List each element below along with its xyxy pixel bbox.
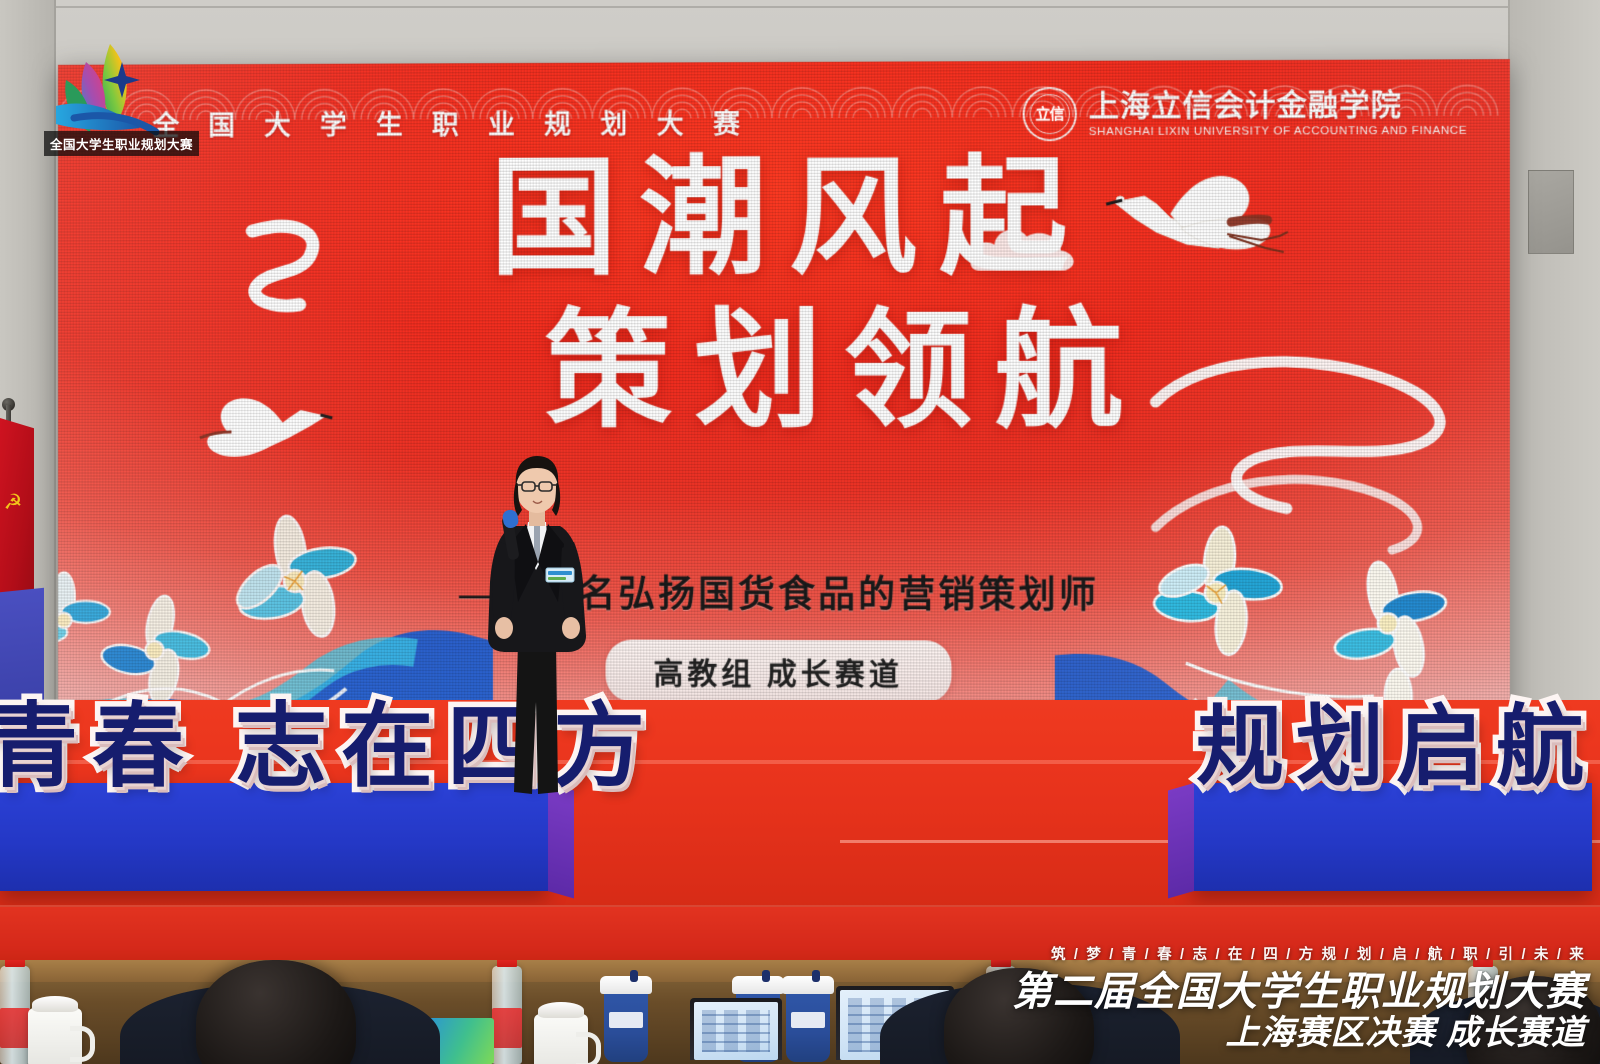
judges-table-area: 源香园	[0, 960, 1600, 1064]
water-bottle	[0, 966, 30, 1064]
tablet-device	[690, 998, 782, 1060]
photo-scene: 全 国 大 学 生 职 业 规 划 大 赛 立信 上海立信会计金融学院 SHAN…	[0, 0, 1600, 1064]
screen-subtitle: ——一名弘扬国货食品的营销策划师	[58, 563, 1510, 620]
audience-head	[944, 968, 1094, 1064]
coffee-cup-band	[791, 1012, 825, 1028]
wall-panel-right	[1508, 0, 1600, 740]
bottle-label	[0, 1008, 30, 1048]
tea-cup	[28, 1008, 82, 1064]
tea-cup	[534, 1014, 588, 1064]
competition-logo-caption: 全国大学生职业规划大赛	[44, 131, 199, 156]
bottle-cap-icon	[497, 960, 517, 967]
coffee-lid-icon	[732, 976, 784, 994]
university-name-en: SHANGHAI LIXIN UNIVERSITY OF ACCOUNTING …	[1089, 124, 1467, 138]
competition-logo: 全国大学生职业规划大赛	[44, 36, 184, 156]
banner-header-text-group: 全 国 大 学 生 职 业 规 划 大 赛	[153, 102, 751, 143]
bottle-cap-icon	[1473, 960, 1493, 967]
banner-header-title: 全 国 大 学 生 职 业 规 划 大 赛	[153, 102, 751, 143]
hammer-sickle-icon: ☭	[2, 490, 24, 516]
university-name-cn: 上海立信会计金融学院	[1089, 88, 1467, 122]
bottle-cap-icon	[991, 960, 1011, 967]
university-seal-icon: 立信	[1022, 87, 1076, 141]
led-backdrop-screen: 全 国 大 学 生 职 业 规 划 大 赛 立信 上海立信会计金融学院 SHAN…	[58, 59, 1510, 765]
coffee-lid-tab-icon	[762, 970, 770, 982]
water-bottle	[492, 966, 522, 1064]
main-title-block: 国潮风起 策划领航	[58, 156, 1510, 434]
wall-vent	[1528, 170, 1574, 254]
coffee-cup-band	[609, 1012, 643, 1028]
main-title-line2: 策划领航	[166, 310, 1509, 434]
coffee-lid-tab-icon	[812, 970, 820, 982]
foam-slogan-right: 规划启航	[1196, 676, 1596, 803]
tablet-screen	[694, 1002, 778, 1060]
contestant-speaker	[472, 452, 602, 797]
coffee-cup	[604, 990, 648, 1062]
coffee-lid-tab-icon	[630, 970, 638, 982]
bottle-cap-icon	[5, 960, 25, 967]
coffee-lid-icon	[600, 976, 652, 994]
university-logo-block: 立信 上海立信会计金融学院 SHANGHAI LIXIN UNIVERSITY …	[1022, 85, 1467, 141]
university-seal-text: 立信	[1036, 107, 1064, 122]
coffee-lid-icon	[782, 976, 834, 994]
bottle-label	[492, 1008, 522, 1048]
main-title-line1: 国潮风起	[58, 156, 1510, 282]
coffee-cup	[786, 990, 830, 1062]
university-name-group: 上海立信会计金融学院 SHANGHAI LIXIN UNIVERSITY OF …	[1089, 88, 1467, 138]
wall-ceiling-seam	[0, 6, 1600, 8]
